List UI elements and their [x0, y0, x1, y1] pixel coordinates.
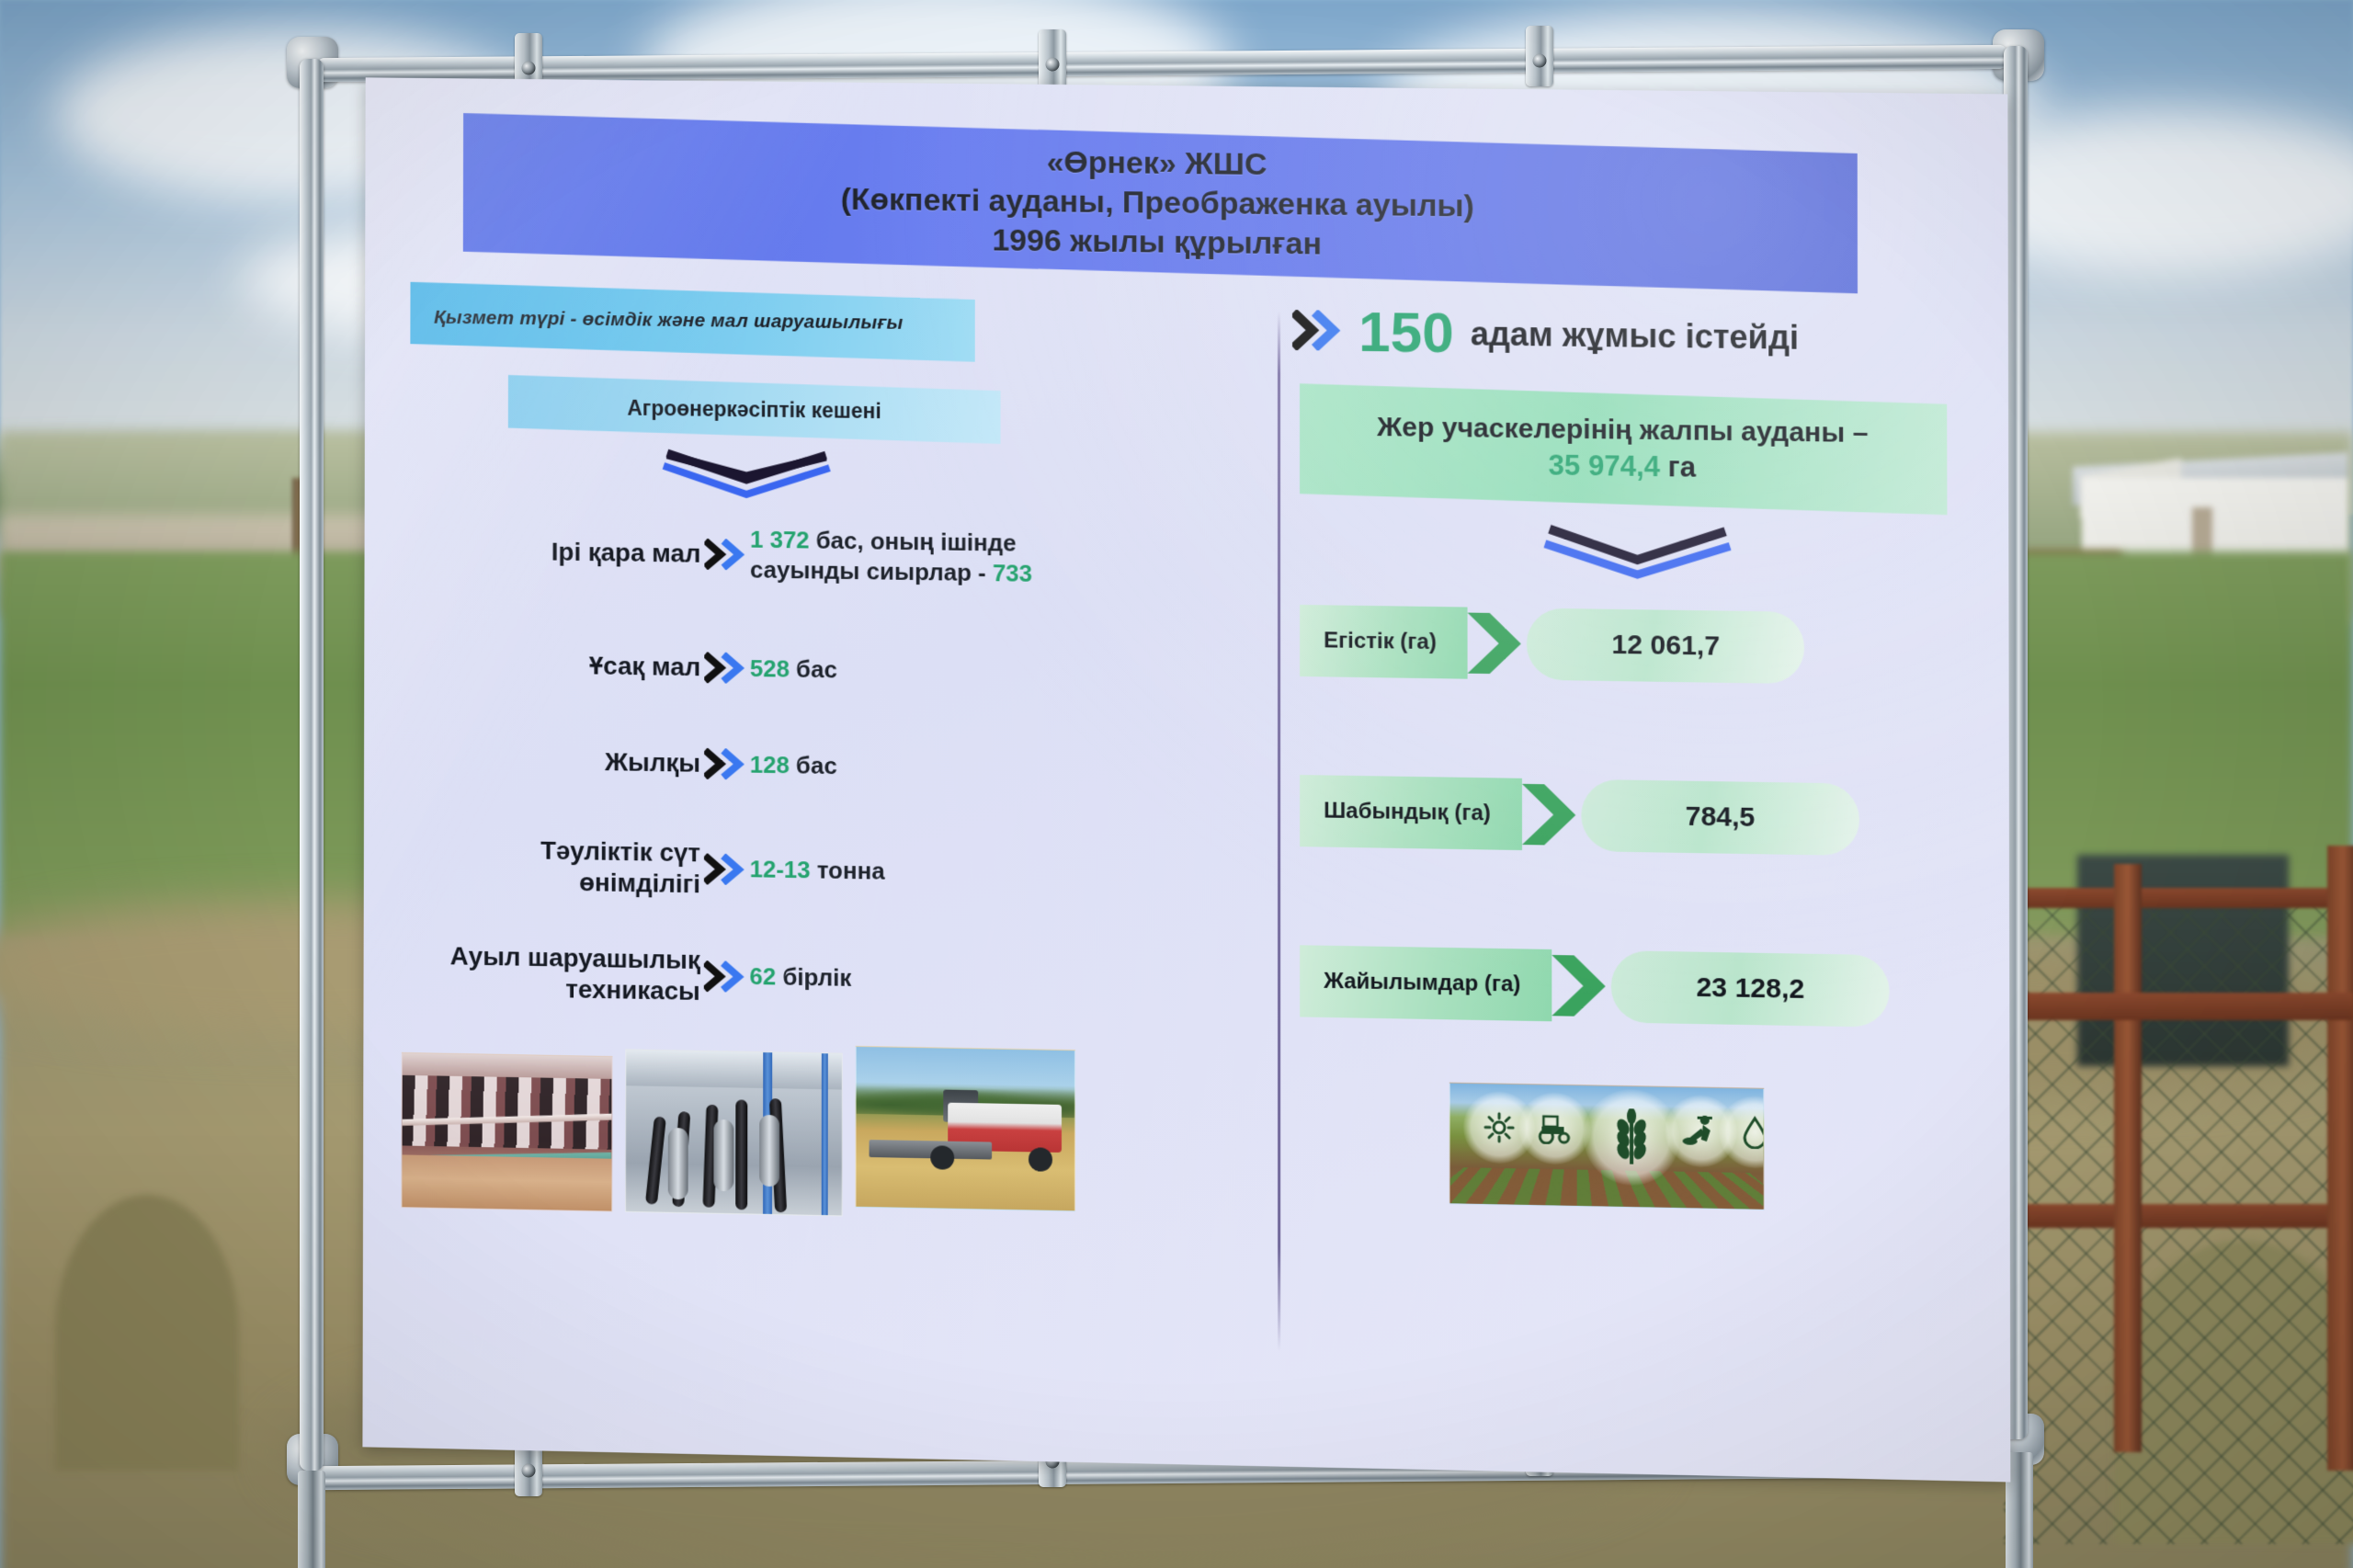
stat-row: Ауыл шаруашылық техникасы 62 бірлік: [363, 939, 1250, 1017]
stat-label-machinery: Ауыл шаруашылық техникасы: [363, 939, 699, 1006]
land-type-hayfield: Шабындық (га): [1300, 775, 1522, 850]
frame-bracket: [1526, 26, 1553, 86]
milk-yield-label-line2: өнімділігі: [391, 863, 700, 899]
stat-label-horses: Жылқы: [392, 744, 701, 779]
crop-field-with-icons-photo: [1449, 1083, 1765, 1210]
small-livestock-unit: бас: [790, 654, 837, 683]
total-land-area-unit: га: [1660, 450, 1696, 483]
land-value-pasture: 23 128,2: [1611, 950, 1890, 1028]
frame-rail-top: [316, 45, 2007, 82]
double-arrow-icon: [700, 652, 750, 684]
total-land-area-number: 35 974,4: [1549, 449, 1660, 483]
machinery-count: 62: [749, 962, 776, 990]
chevron-down-icon: [1540, 522, 1734, 582]
stat-row: Жылқы 128 бас: [392, 744, 1250, 789]
stat-value-milk-yield: 12-13 тонна: [750, 855, 1180, 892]
dairy-cows-count: 733: [993, 559, 1032, 587]
stat-row: Тәуліктік сүт өнімділігі 12-13 тонна: [391, 833, 1250, 908]
stat-label-cattle: Ірі қара мал: [392, 534, 700, 569]
double-arrow-icon: [1292, 310, 1342, 356]
milk-yield-unit: тонна: [811, 857, 885, 885]
stat-label-small-livestock: Ұсақ мал: [392, 648, 700, 683]
right-panel: 150 адам жұмыс істейді Жер учаскелерінің…: [1278, 86, 2010, 1482]
horses-unit: бас: [790, 751, 837, 779]
agro-complex-header: Агроөнеркәсіптік кешені: [508, 375, 1001, 444]
milking-parlour-photo: [625, 1049, 843, 1216]
left-panel: Қызмет түрі - өсімдік және мал шаруашылы…: [362, 77, 1278, 1466]
service-type-label: Қызмет түрі - өсімдік және мал шаруашылы…: [410, 307, 903, 335]
land-row: Шабындық (га) 784,5: [1300, 771, 1859, 859]
frame-bracket: [1039, 29, 1066, 90]
stat-row: Ірі қара мал 1 372 бас, оның ішінде сауы…: [392, 519, 1250, 591]
stat-value-small-livestock: 528 бас: [750, 653, 1180, 690]
chevron-down-icon-svg: [1540, 522, 1734, 585]
service-type-banner: Қызмет түрі - өсімдік және мал шаруашылы…: [410, 282, 974, 362]
land-type-arable: Егістік (га): [1300, 605, 1468, 679]
land-value-hayfield: 784,5: [1581, 779, 1859, 856]
stat-label-milk-yield: Тәуліктік сүт өнімділігі: [391, 833, 700, 899]
machinery-unit: бірлік: [776, 963, 851, 992]
agro-complex-label: Агроөнеркәсіптік кешені: [627, 395, 881, 423]
sign-assembly: «Өрнек» ЖШС (Көкпекті ауданы, Преображен…: [303, 37, 2050, 1544]
sign-post-left: [298, 1471, 325, 1568]
land-value-arable: 12 061,7: [1527, 608, 1804, 684]
grass-tuft: [55, 1195, 239, 1471]
land-row: Жайылымдар (га) 23 128,2: [1300, 941, 1890, 1031]
land-row: Егістік (га) 12 061,7: [1300, 601, 1805, 687]
arrow-right-icon: [1522, 778, 1581, 851]
total-land-area-banner: Жер учаскелерінің жалпы ауданы – 35 974,…: [1300, 383, 1947, 515]
total-land-area-label: Жер учаскелерінің жалпы ауданы –: [1378, 412, 1869, 449]
dairy-cows-label: сауынды сиырлар -: [750, 555, 993, 586]
total-land-area-value: 35 974,4 га: [1378, 447, 1869, 486]
chevron-down-icon: [660, 446, 834, 505]
arrow-right-icon: [1552, 949, 1612, 1022]
frame-rail-left: [300, 59, 324, 1471]
stat-value-machinery: 62 бірлік: [749, 961, 1180, 999]
employee-count-label: адам жұмыс істейді: [1471, 314, 1799, 357]
double-arrow-icon: [700, 960, 750, 993]
milk-yield-value: 12-13: [750, 856, 811, 884]
stat-value-horses: 128 бас: [750, 749, 1180, 786]
small-livestock-count: 528: [750, 654, 790, 683]
horses-count: 128: [750, 750, 790, 778]
stat-value-cattle: 1 372 бас, оның ішінде сауынды сиырлар -…: [750, 525, 1180, 591]
cows-in-barn-photo: [401, 1052, 612, 1212]
stat-row: Ұсақ мал 528 бас: [392, 647, 1250, 691]
combine-harvester-photo: [856, 1046, 1075, 1211]
double-arrow-icon: [700, 748, 750, 780]
tractor-icon: [1518, 1092, 1591, 1165]
employee-count-row: 150 адам жұмыс істейді: [1292, 296, 1977, 376]
double-arrow-icon: [700, 539, 750, 571]
double-arrow-icon: [700, 853, 750, 885]
chevron-down-icon-svg: [660, 446, 834, 505]
information-board: «Өрнек» ЖШС (Көкпекті ауданы, Преображен…: [362, 77, 2010, 1482]
employee-count-number: 150: [1358, 304, 1454, 362]
milk-yield-label-line1: Тәуліктік сүт: [391, 833, 700, 869]
cattle-total: 1 372: [750, 526, 810, 554]
cattle-total-unit: бас, оның ішінде: [810, 527, 1017, 557]
arrow-right-icon: [1468, 608, 1527, 680]
land-type-pasture: Жайылымдар (га): [1300, 945, 1552, 1021]
machinery-label-line2: техникасы: [363, 970, 699, 1006]
